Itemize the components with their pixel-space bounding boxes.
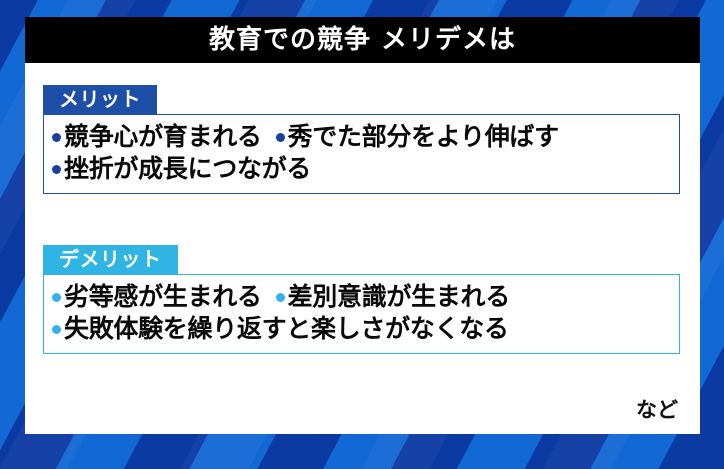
list-item: 差別意識が生まれる <box>276 281 510 313</box>
list-item: 秀でた部分をより伸ばす <box>276 121 559 153</box>
graphic-slide: 教育での競争 メリデメは メリット 競争心が育まれる 秀でた部分をより伸ばす <box>0 0 724 469</box>
list-item-label: 劣等感が生まれる <box>64 281 262 313</box>
list-row: 挫折が成長につながる <box>52 153 671 185</box>
title-bar: 教育での競争 メリデメは <box>25 17 700 63</box>
bullet-icon <box>276 293 285 302</box>
list-item: 失敗体験を繰り返すと楽しさがなくなる <box>52 313 509 345</box>
bullet-icon <box>276 133 285 142</box>
list-item-label: 失敗体験を繰り返すと楽しさがなくなる <box>64 313 509 345</box>
list-row: 競争心が育まれる 秀でた部分をより伸ばす <box>52 121 671 153</box>
list-item: 挫折が成長につながる <box>52 153 311 185</box>
list-row: 失敗体験を繰り返すと楽しさがなくなる <box>52 313 671 345</box>
demerit-list-box: 劣等感が生まれる 差別意識が生まれる 失敗体験を繰り返すと楽しさがなくなる <box>43 274 680 354</box>
list-item-label: 差別意識が生まれる <box>288 281 510 313</box>
list-item-label: 競争心が育まれる <box>64 121 262 153</box>
bullet-icon <box>52 293 61 302</box>
list-item-label: 挫折が成長につながる <box>64 153 311 185</box>
section-merit: メリット 競争心が育まれる 秀でた部分をより伸ばす 挫折が成長につな <box>43 85 680 194</box>
bullet-icon <box>52 325 61 334</box>
section-label-merit: メリット <box>43 85 157 115</box>
merit-list-box: 競争心が育まれる 秀でた部分をより伸ばす 挫折が成長につながる <box>43 114 680 194</box>
section-demerit: デメリット 劣等感が生まれる 差別意識が生まれる 失敗体験を繰り返す <box>43 245 680 354</box>
list-item: 競争心が育まれる <box>52 121 262 153</box>
bullet-icon <box>52 133 61 142</box>
section-label-demerit: デメリット <box>43 245 178 275</box>
footnote-etc: など <box>636 394 678 424</box>
list-row: 劣等感が生まれる 差別意識が生まれる <box>52 281 671 313</box>
content-panel: メリット 競争心が育まれる 秀でた部分をより伸ばす 挫折が成長につな <box>25 63 700 434</box>
list-item-label: 秀でた部分をより伸ばす <box>288 121 559 153</box>
list-item: 劣等感が生まれる <box>52 281 262 313</box>
page-title: 教育での競争 メリデメは <box>209 27 516 53</box>
bullet-icon <box>52 165 61 174</box>
